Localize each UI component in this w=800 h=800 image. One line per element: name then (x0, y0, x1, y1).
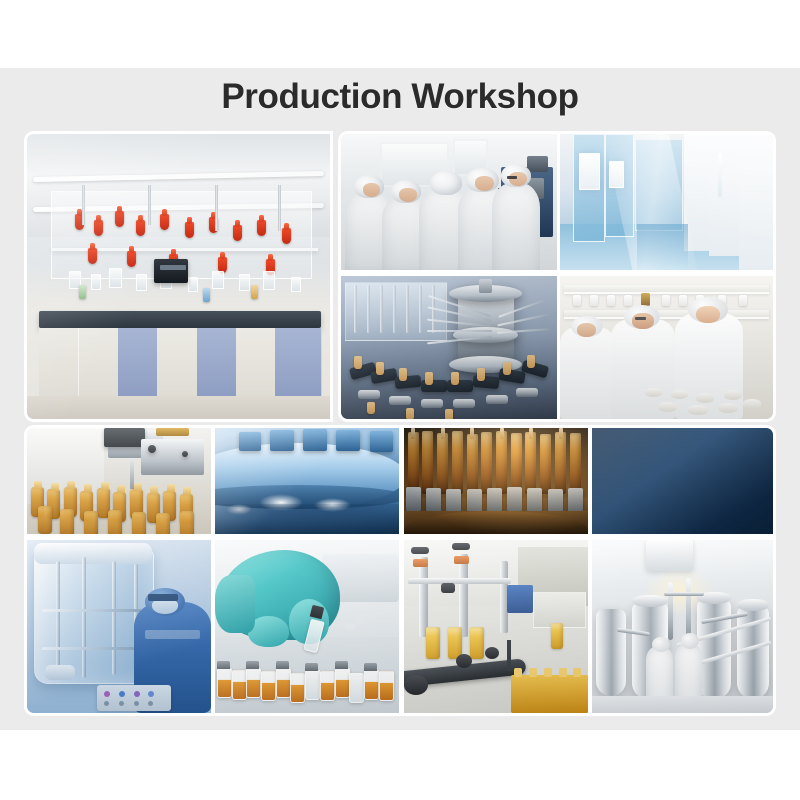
gallery-tile-blue-capsules-chute[interactable] (592, 428, 773, 534)
gallery-tile-workers-inspection[interactable] (341, 134, 557, 270)
page-title: Production Workshop (0, 76, 800, 118)
gallery-tile-lab-bench-room[interactable] (27, 134, 330, 419)
gallery-tile-stainless-reactor-hall[interactable] (592, 540, 773, 713)
screenshot-root: Production Workshop (0, 0, 800, 800)
gallery-tile-amber-ampoules-rotary[interactable] (404, 428, 588, 534)
gallery-tile-blue-turntable-macro[interactable] (215, 428, 399, 534)
gallery-tile-bottling-labelling-line[interactable] (404, 540, 588, 713)
gallery-tile-rotary-filling-machine[interactable] (341, 276, 557, 419)
gallery-tile-bioreactor-operator[interactable] (27, 540, 211, 713)
gallery-tile-amber-bottles-conveyor[interactable] (27, 428, 211, 534)
gallery-tile-workers-packing-jars[interactable] (560, 276, 773, 419)
gallery-tile-cleanroom-corridor[interactable] (560, 134, 773, 270)
gallery-tile-gloved-hand-vials[interactable] (215, 540, 399, 713)
